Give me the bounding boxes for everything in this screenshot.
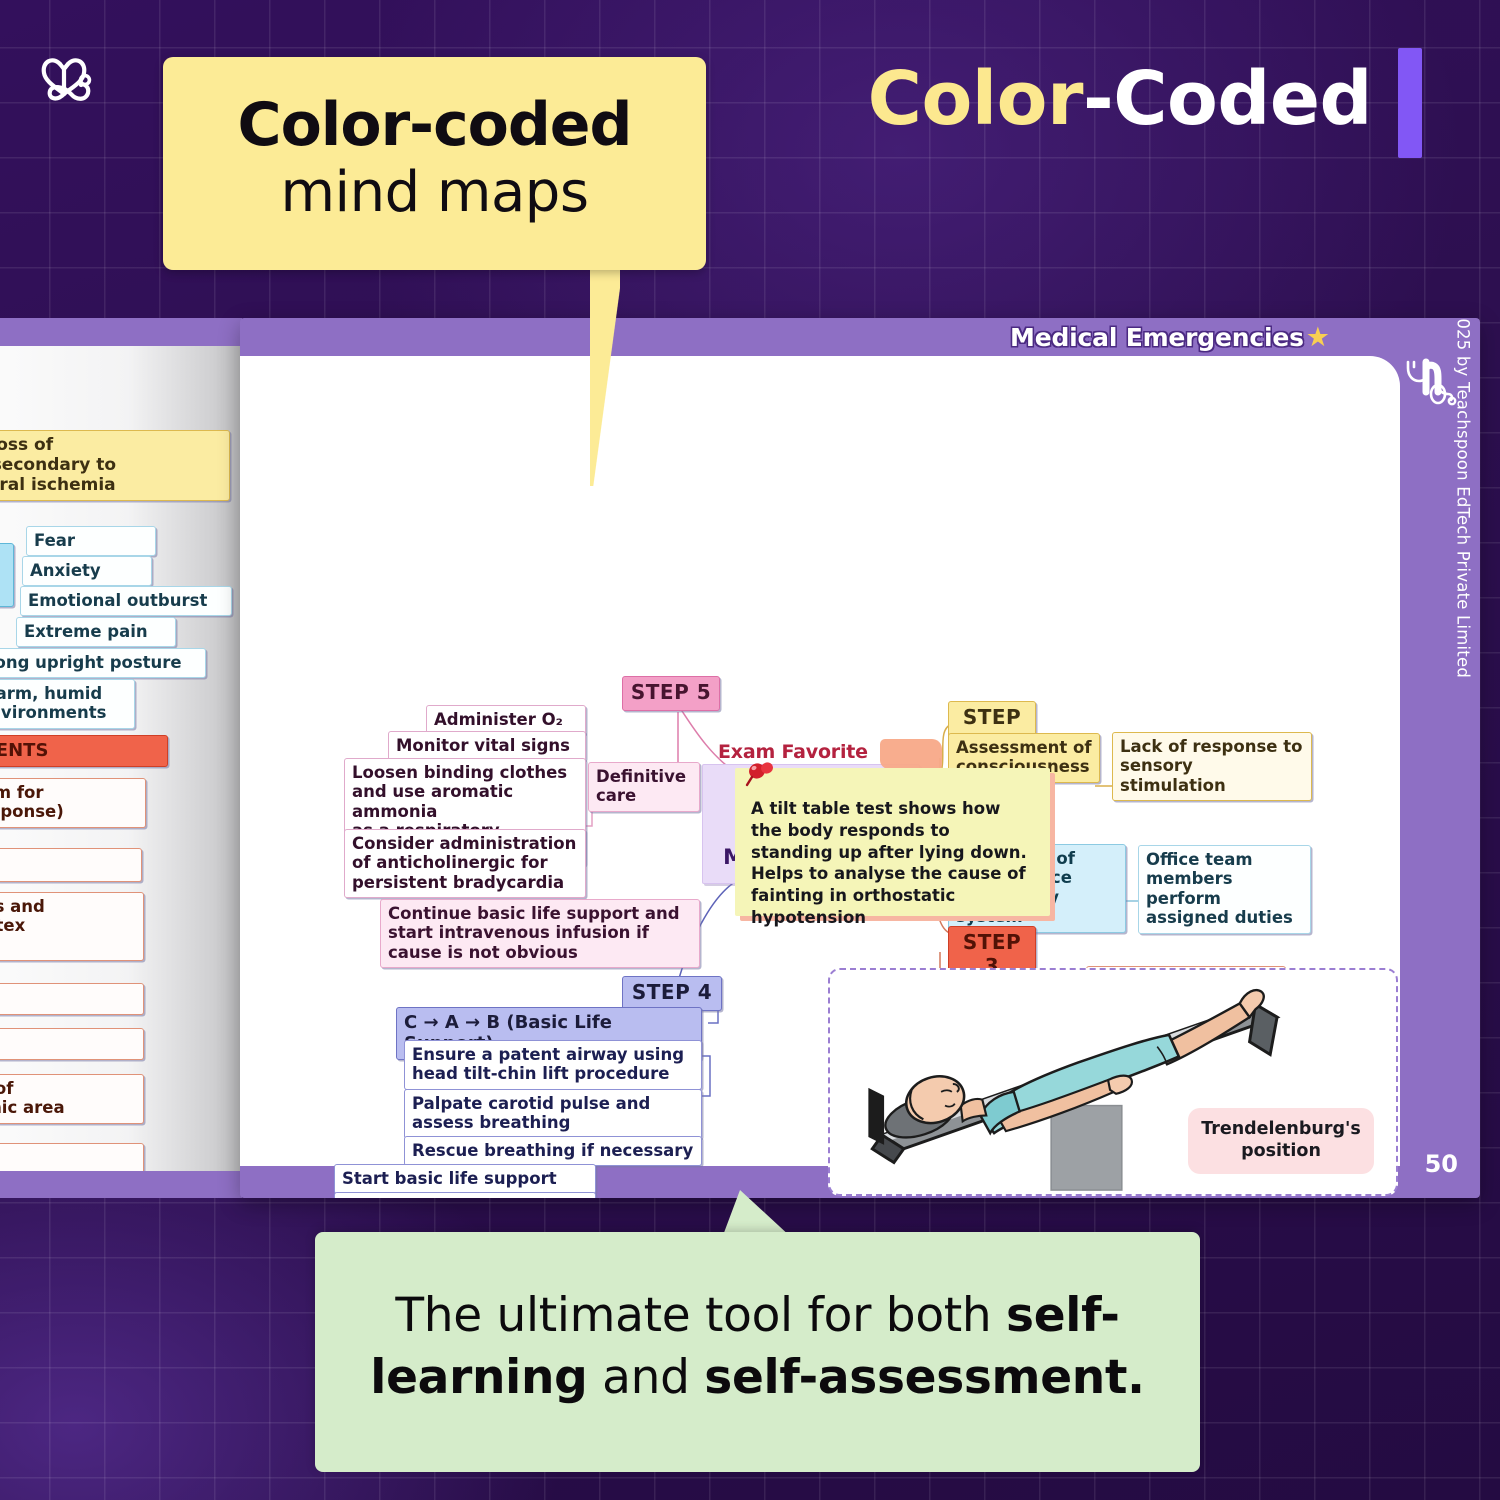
star-icon: ★ (1306, 322, 1330, 353)
book-right-page: Medical Emergencies ★ © 2025 by Teachspo… (240, 318, 1480, 1198)
callout-ultimate-tool: The ultimate tool for both self-learning… (315, 1232, 1200, 1472)
callout-bottom-bold2: self-assessment. (704, 1350, 1144, 1405)
left-node-rate: te (0, 983, 144, 1015)
left-node-long-upright-posture: Long upright posture (0, 648, 206, 678)
headline-rest: -Coded (1083, 56, 1372, 142)
page-number: 50 (1425, 1150, 1458, 1178)
step-4-node-rescue-breathing: Rescue breathing if necessary (404, 1136, 702, 1166)
left-node-clinical-events: ICAL EVENTS (0, 735, 168, 767)
copyright-notice: © 2025 by Teachspoon EdTech Private Limi… (1453, 318, 1472, 678)
exam-favorite-note: A tilt table test shows how the body res… (735, 768, 1050, 916)
left-node-extreme-pain: Extreme pain (16, 617, 176, 647)
trendelenburg-illustration: Trendelenburg's position (828, 968, 1398, 1196)
exam-favorite-highlight (880, 739, 942, 769)
callout-bottom-text: The ultimate tool for both self-learning… (355, 1285, 1160, 1409)
headline-highlight: Color (868, 56, 1083, 142)
left-node-blank-1 (0, 848, 142, 882)
left-node-fear: Fear (26, 526, 156, 556)
step-4-node-patent-airway: Ensure a patent airway using head tilt-c… (404, 1040, 702, 1090)
left-page-content: versible loss of ousness secondary to en… (0, 346, 242, 1171)
page-header: Medical Emergencies ★ (240, 318, 1480, 356)
left-node-blank-2 (0, 1143, 144, 1171)
callout-top-line2: mind maps (280, 161, 588, 225)
page-title: Medical Emergencies (1010, 323, 1304, 352)
step-5-node-continue-bls: Continue basic life support and start in… (380, 899, 700, 968)
m-stethoscope-logo (1396, 354, 1458, 414)
trendelenburg-caption: Trendelenburg's position (1188, 1108, 1374, 1174)
exam-favorite-label: Exam Favorite (718, 741, 868, 763)
step-4-node-summon-assistance: Have someone summon medical assistance (334, 1192, 596, 1198)
step-4-badge: STEP 4 (622, 976, 722, 1011)
left-node-dilatation: tation (0, 1028, 144, 1060)
left-node-mechanism: chanism for ght response) (0, 778, 146, 828)
step-5-badge: STEP 5 (622, 676, 720, 711)
step-4-node-palpate-carotid: Palpate carotid pulse and assess breathi… (404, 1089, 702, 1139)
left-node-emotional-outburst: Emotional outburst (20, 586, 232, 616)
headline-accent-bar (1398, 48, 1422, 158)
step-5-node-monitor-vitals: Monitor vital signs (388, 731, 586, 761)
step-5-node-anticholinergic: Consider administration of anticholinerg… (344, 829, 586, 898)
mindmap-canvas: SYNCOPE MANAGEMENT STEP 1 Assessment of … (240, 356, 1400, 1166)
left-node-catecholamines: lamines and nal cortex erves (0, 892, 144, 961)
step-5-node-definitive-care: Definitive care (588, 762, 700, 812)
book-left-page: versible loss of ousness secondary to en… (0, 318, 242, 1198)
push-pin-icon (745, 759, 779, 787)
step-4-node-start-bls: Start basic life support (334, 1164, 596, 1194)
left-node-anxiety: Anxiety (22, 556, 152, 586)
left-node-psychogenic: ic (0, 543, 14, 607)
heart-stethoscope-logo (40, 52, 112, 114)
callout-top-line1: Color-coded (238, 95, 632, 155)
page-headline: Color-Coded (868, 56, 1372, 142)
callout-bottom-part1: The ultimate tool for both (395, 1288, 1006, 1343)
left-node-definition: versible loss of ousness secondary to en… (0, 430, 230, 501)
callout-bottom-part2: and (587, 1350, 704, 1405)
step-1-node-lack-of-response: Lack of response to sensory stimulation (1112, 732, 1312, 801)
left-node-veins-splanchnic: veins of lanchnic area (0, 1074, 144, 1124)
callout-top-tail (590, 264, 620, 486)
callout-bottom-tail (722, 1190, 792, 1238)
left-node-warm-humid: Warm, humid environments (0, 679, 135, 729)
book-spread: versible loss of ousness secondary to en… (0, 318, 1490, 1198)
step-2-node-office-team: Office team members perform assigned dut… (1138, 845, 1311, 934)
callout-color-coded-mind-maps: Color-coded mind maps (163, 57, 706, 270)
